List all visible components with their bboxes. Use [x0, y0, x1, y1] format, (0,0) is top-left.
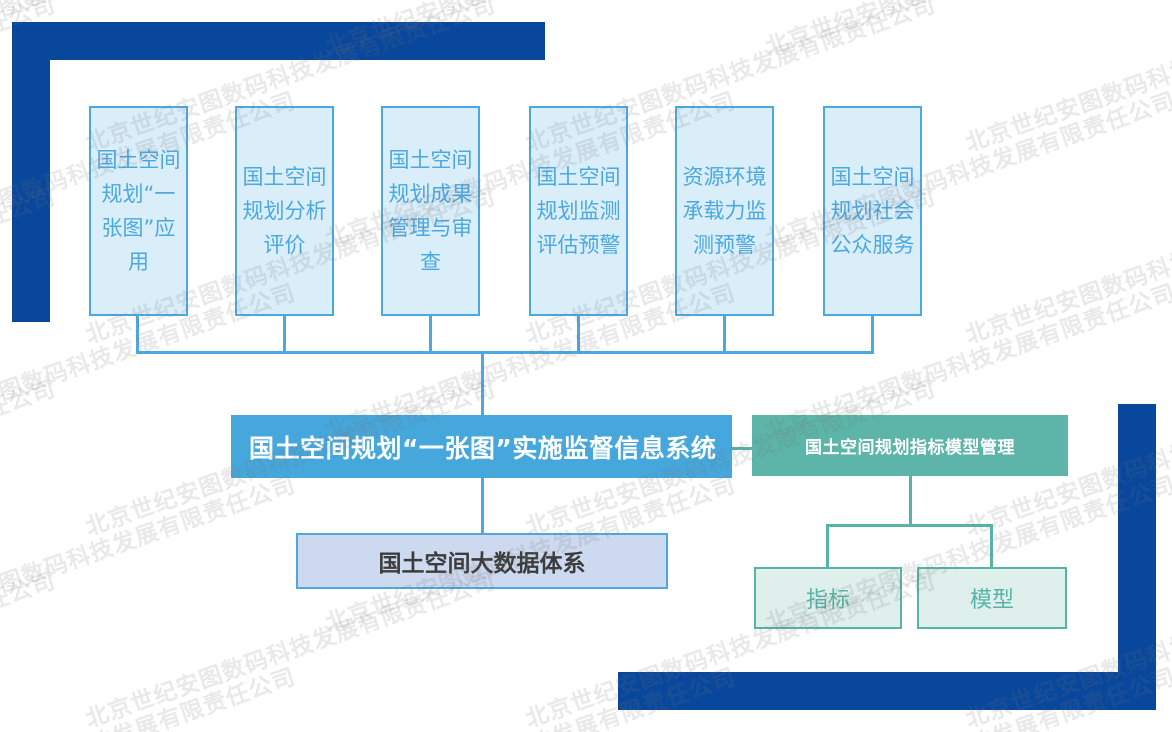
frame-bottom-right-horizontal [618, 672, 1156, 710]
connector-teal-leaf-2-drop [990, 524, 993, 567]
teal-leaf-label: 指标 [806, 582, 850, 614]
watermark-text: 北京世纪安图数码科技发展有限责任公司 [0, 369, 60, 542]
teal-leaf-indicator[interactable]: 指标 [754, 567, 902, 629]
watermark-text: 北京世纪安图数码科技发展有限责任公司 [960, 0, 1172, 158]
indicator-model-management-label: 国土空间规划指标模型管理 [805, 433, 1015, 458]
main-system-banner-label: 国土空间规划“一张图”实施监督信息系统 [249, 429, 716, 465]
indicator-model-management-box[interactable]: 国土空间规划指标模型管理 [752, 415, 1068, 476]
module-label: 国土空间 规划成果 管理与审 查 [387, 143, 474, 279]
connector-module-3-drop [429, 316, 432, 353]
connector-indicator-model-drop [909, 476, 912, 526]
frame-top-left-horizontal [12, 22, 545, 60]
frame-bottom-right-vertical [1118, 404, 1156, 710]
watermark-text: 北京世纪安图数码科技发展有限责任公司 [760, 81, 1172, 254]
connector-module-6-drop [871, 316, 874, 353]
connector-module-5-drop [723, 316, 726, 353]
watermark-text: 北京世纪安图数码科技发展有限责任公司 [960, 177, 1172, 350]
bigdata-system-label: 国土空间大数据体系 [379, 544, 586, 578]
connector-module-1-drop [136, 316, 139, 353]
connector-module-2-drop [283, 316, 286, 353]
module-box-results-management-review[interactable]: 国土空间 规划成果 管理与审 查 [381, 106, 480, 316]
module-label: 国土空间 规划分析 评价 [241, 160, 328, 262]
teal-leaf-model[interactable]: 模型 [917, 567, 1067, 629]
watermark-text: 北京世纪安图数码科技发展有限责任公司 [0, 465, 300, 638]
connector-bus-to-banner [481, 351, 484, 415]
connector-module-4-drop [577, 316, 580, 353]
connector-teal-bus [826, 524, 993, 527]
module-label: 国土空间 规划监测 评估预警 [535, 160, 622, 262]
watermark-text: 北京世纪安图数码科技发展有限责任公司 [760, 0, 1172, 62]
bigdata-system-box[interactable]: 国土空间大数据体系 [296, 533, 668, 589]
teal-leaf-label: 模型 [970, 582, 1014, 614]
module-label: 国土空间 规划社会 公众服务 [829, 160, 916, 262]
module-box-yizhangtu-application[interactable]: 国土空间 规划“一 张图”应 用 [89, 106, 188, 316]
diagram-canvas: 国土空间 规划“一 张图”应 用 国土空间 规划分析 评价 国土空间 规划成果 … [0, 0, 1172, 732]
frame-top-left-vertical [12, 22, 50, 322]
module-box-planning-analysis-evaluation[interactable]: 国土空间 规划分析 评价 [235, 106, 334, 316]
module-label: 国土空间 规划“一 张图”应 用 [95, 143, 182, 279]
connector-teal-leaf-1-drop [826, 524, 829, 567]
watermark-text: 北京世纪安图数码科技发展有限责任公司 [0, 657, 300, 732]
connector-horizontal-bus [136, 351, 874, 354]
watermark-text: 北京世纪安图数码科技发展有限责任公司 [0, 561, 60, 732]
module-box-monitoring-assessment-warning[interactable]: 国土空间 规划监测 评估预警 [529, 106, 628, 316]
connector-banner-to-bigdata [481, 478, 484, 535]
module-label: 资源环境 承载力监 测预警 [681, 160, 768, 262]
module-box-resource-environment-capacity[interactable]: 资源环境 承载力监 测预警 [675, 106, 774, 316]
main-system-banner[interactable]: 国土空间规划“一张图”实施监督信息系统 [231, 415, 732, 478]
module-box-public-service[interactable]: 国土空间 规划社会 公众服务 [823, 106, 922, 316]
